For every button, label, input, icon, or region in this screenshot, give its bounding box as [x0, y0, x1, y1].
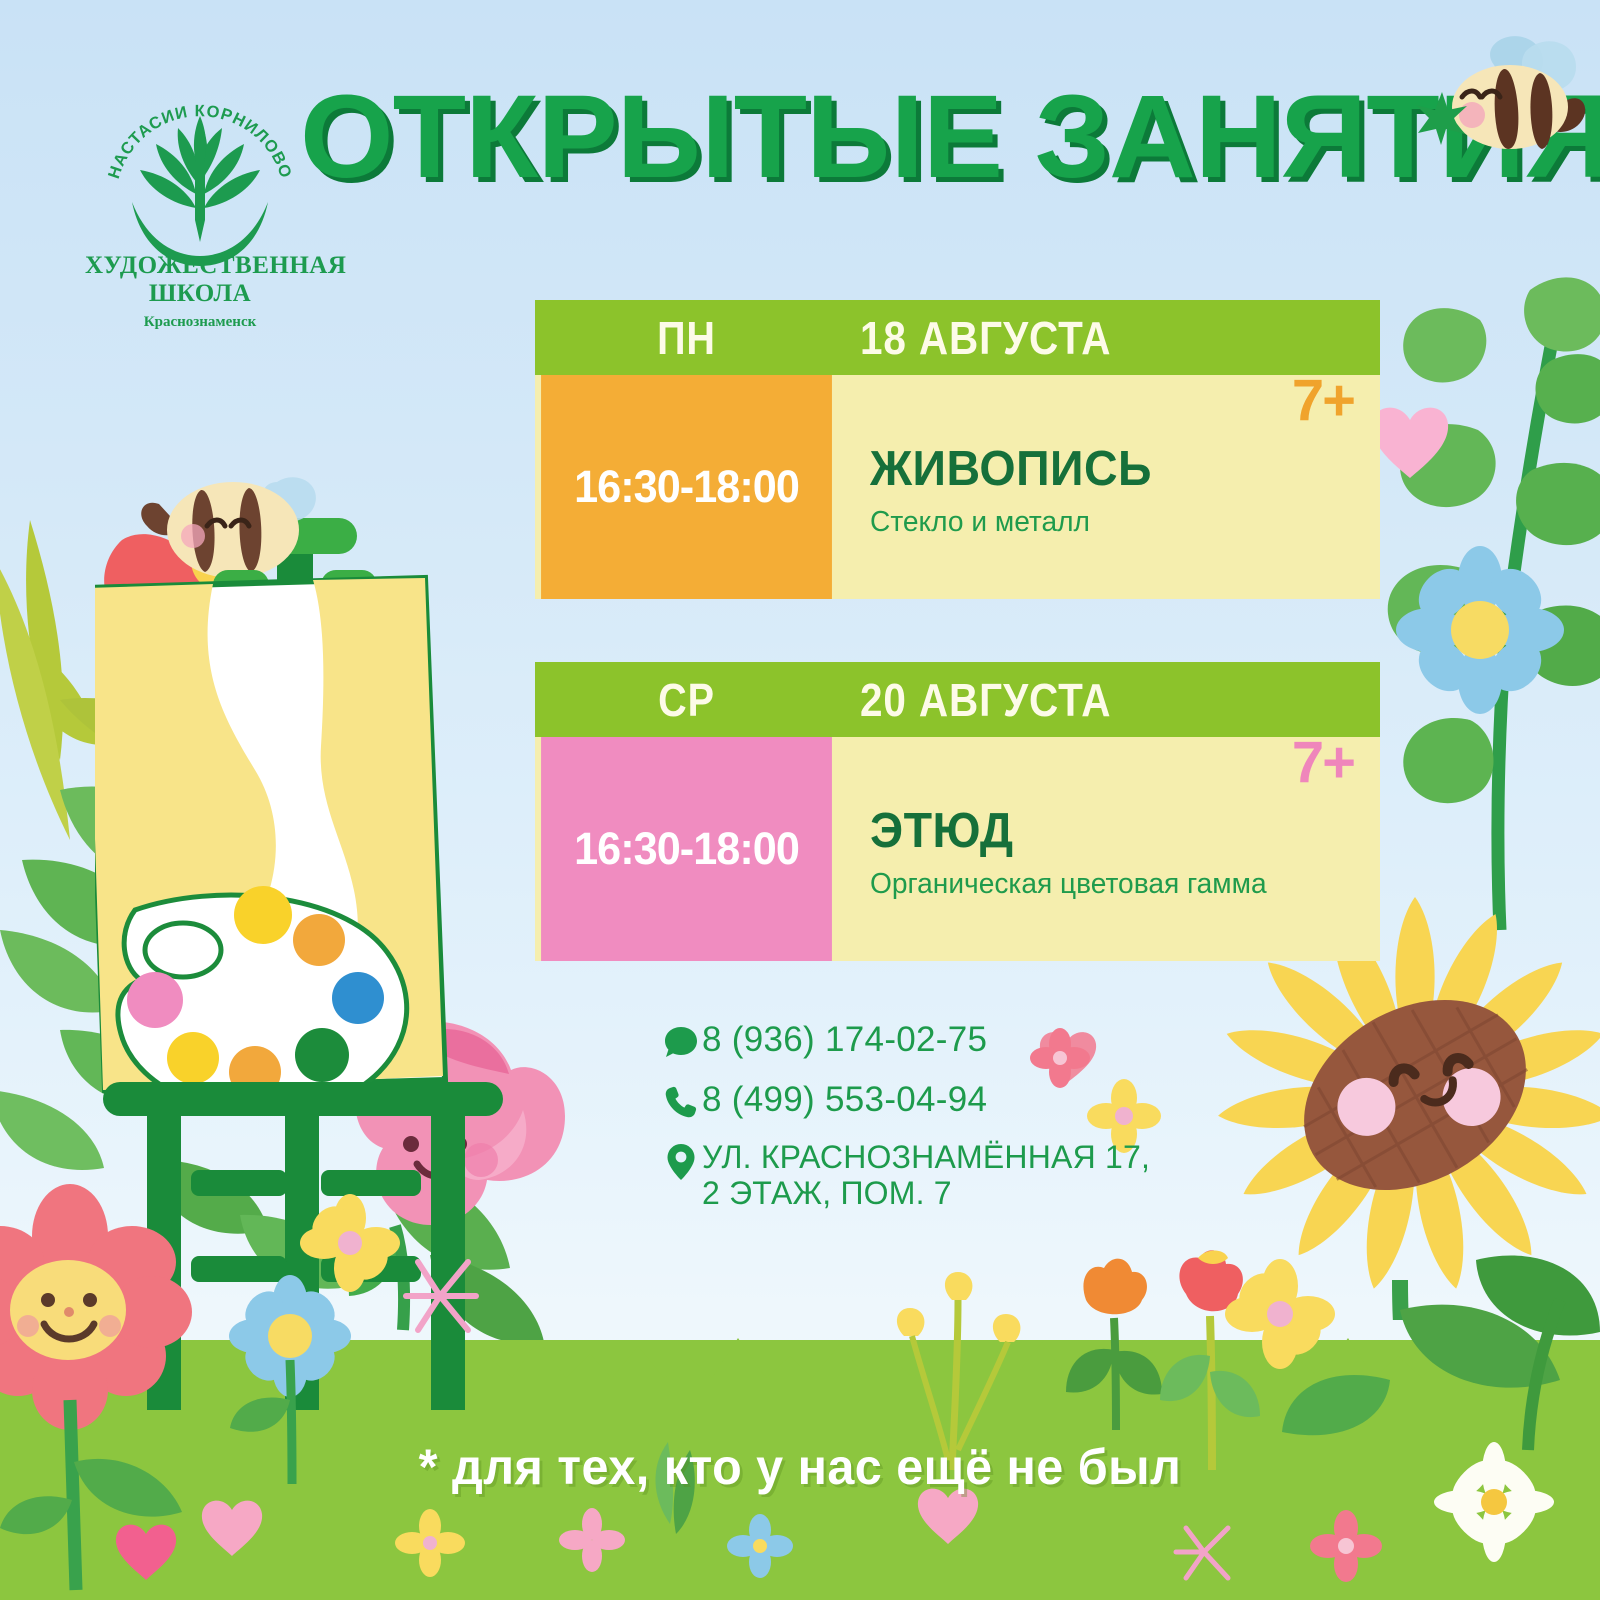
blue-daisy-icon [1396, 546, 1564, 714]
schedule-lesson-title: ЖИВОПИСЬ [870, 445, 1355, 494]
contact-row-messenger[interactable]: 8 (936) 174-02-75 [660, 1020, 1150, 1064]
chat-bubble-icon [660, 1020, 702, 1064]
schedule-date: 20 АВГУСТА [860, 673, 1111, 727]
heart-icon [1372, 408, 1448, 478]
easel-with-canvas [95, 470, 575, 1420]
branch-leaves-icon [1388, 277, 1600, 930]
schedule-body: 16:30-18:00 ЭТЮД Органическая цветовая г… [535, 737, 1380, 961]
schedule-time: 16:30-18:00 [541, 737, 832, 961]
schedule-time: 16:30-18:00 [541, 375, 832, 599]
schedule-header: СР 20 АВГУСТА [535, 662, 1380, 737]
contact-row-phone[interactable]: 8 (499) 553-04-94 [660, 1080, 1150, 1124]
school-logo: АНАСТАСИИ КОРНИЛОВОЙ [85, 70, 315, 331]
contact-block: 8 (936) 174-02-75 8 (499) 553-04-94 УЛ. … [660, 1020, 1150, 1228]
contact-messenger-number: 8 (936) 174-02-75 [702, 1020, 987, 1059]
schedule-day: СР [556, 673, 817, 727]
schedule-block: СР 20 АВГУСТА 16:30-18:00 ЭТЮД Органичес… [535, 662, 1380, 961]
easel-frame [103, 1082, 503, 1410]
schedule-details: ЖИВОПИСЬ Стекло и металл 7+ [838, 375, 1380, 599]
schedule-header: ПН 18 АВГУСТА [535, 300, 1380, 375]
location-pin-icon [660, 1140, 702, 1184]
schedule-day: ПН [556, 311, 817, 365]
footer-note: * для тех, кто у нас ещё не был [24, 1438, 1576, 1496]
schedule-date: 18 АВГУСТА [860, 311, 1111, 365]
logo-city: Краснознаменск [85, 314, 315, 331]
poster-canvas: АНАСТАСИИ КОРНИЛОВОЙ [0, 0, 1600, 1600]
schedule-details: ЭТЮД Органическая цветовая гамма 7+ [838, 737, 1380, 961]
contact-address: УЛ. КРАСНОЗНАМЁННАЯ 17,2 ЭТАЖ, ПОМ. 7 [702, 1140, 1150, 1212]
phone-icon [660, 1080, 702, 1124]
schedule-lesson-title: ЭТЮД [870, 807, 1355, 856]
contact-row-address[interactable]: УЛ. КРАСНОЗНАМЁННАЯ 17,2 ЭТАЖ, ПОМ. 7 [660, 1140, 1150, 1212]
schedule-block: ПН 18 АВГУСТА 16:30-18:00 ЖИВОПИСЬ Стекл… [535, 300, 1380, 599]
page-title: ОТКРЫТЫЕ ЗАНЯТИЯ* [300, 78, 1483, 196]
leaf-brush-emblem-icon: АНАСТАСИИ КОРНИЛОВОЙ [100, 70, 300, 270]
schedule-lesson-topic: Стекло и металл [870, 506, 1365, 539]
schedule-lesson-topic: Органическая цветовая гамма [870, 868, 1365, 901]
schedule-body: 16:30-18:00 ЖИВОПИСЬ Стекло и металл 7+ [535, 375, 1380, 599]
green-sparkle-icon [1415, 90, 1469, 146]
schedule-age-badge: 7+ [1292, 729, 1354, 796]
logo-emblem: АНАСТАСИИ КОРНИЛОВОЙ [100, 70, 300, 260]
schedule-age-badge: 7+ [1292, 367, 1354, 434]
contact-phone-number: 8 (499) 553-04-94 [702, 1080, 987, 1119]
